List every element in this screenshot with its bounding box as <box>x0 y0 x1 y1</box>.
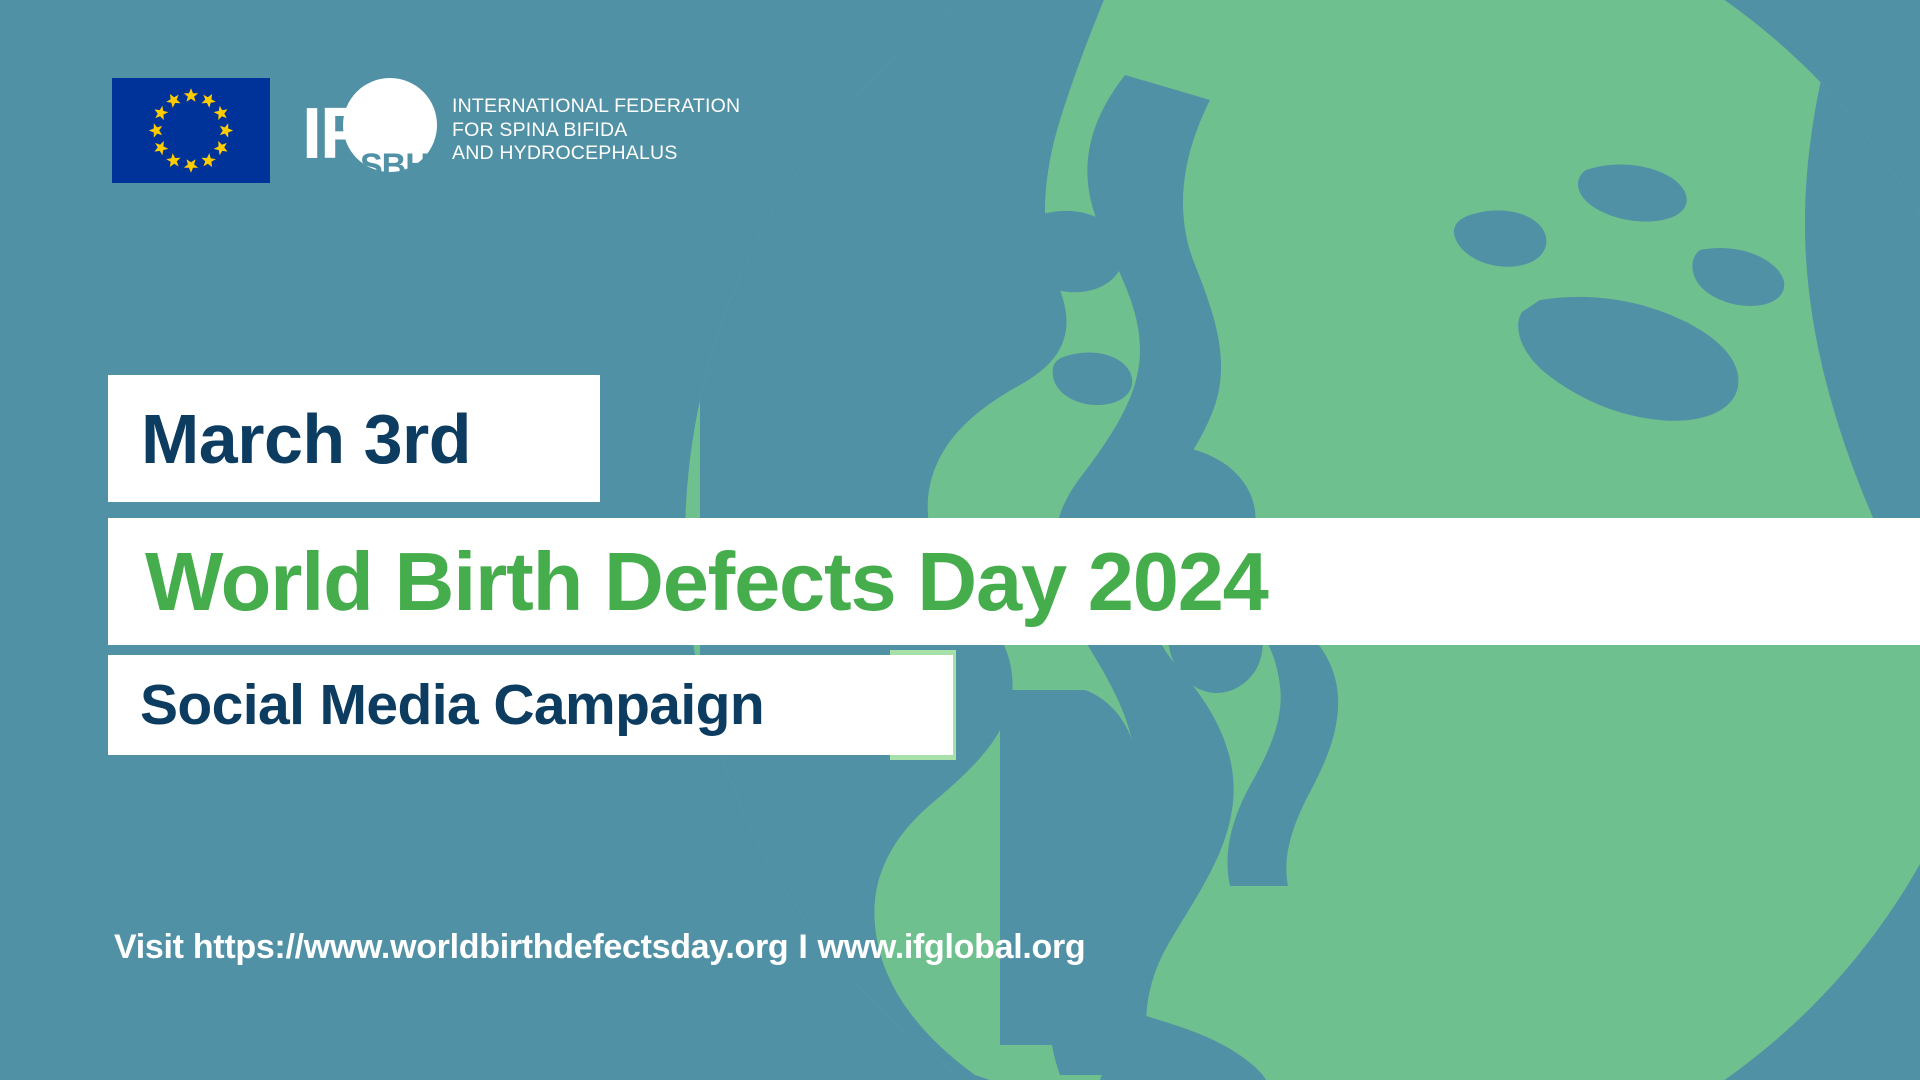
campaign-title: World Birth Defects Day 2024 <box>145 540 1268 623</box>
campaign-subtitle: Social Media Campaign <box>140 677 764 734</box>
date-label: March 3rd <box>141 404 471 474</box>
ifsbh-logomark: IF SBH <box>302 78 442 183</box>
poster-canvas: IF SBH INTERNATIONAL FEDERATION FOR SPIN… <box>0 0 1920 1080</box>
link-separator: I <box>788 928 817 966</box>
organisation-line-1: INTERNATIONAL FEDERATION <box>452 95 740 119</box>
organisation-name: INTERNATIONAL FEDERATION FOR SPINA BIFID… <box>452 95 740 166</box>
organisation-line-2: FOR SPINA BIFIDA <box>452 119 740 143</box>
ifsbh-logo: IF SBH INTERNATIONAL FEDERATION FOR SPIN… <box>302 78 740 183</box>
date-band: March 3rd <box>108 375 600 502</box>
european-union-flag <box>112 78 270 183</box>
secondary-website-link[interactable]: www.ifglobal.org <box>818 928 1086 966</box>
svg-text:SBH: SBH <box>360 147 429 183</box>
organisation-line-3: AND HYDROCEPHALUS <box>452 142 740 166</box>
footer-links: Visit https://www.worldbirthdefectsday.o… <box>114 928 1085 967</box>
title-band: World Birth Defects Day 2024 <box>108 518 1920 645</box>
primary-website-link[interactable]: Visit https://www.worldbirthdefectsday.o… <box>114 928 788 966</box>
logo-bar: IF SBH INTERNATIONAL FEDERATION FOR SPIN… <box>112 78 740 183</box>
svg-text:IF: IF <box>302 94 362 174</box>
subtitle-band: Social Media Campaign <box>108 655 953 755</box>
